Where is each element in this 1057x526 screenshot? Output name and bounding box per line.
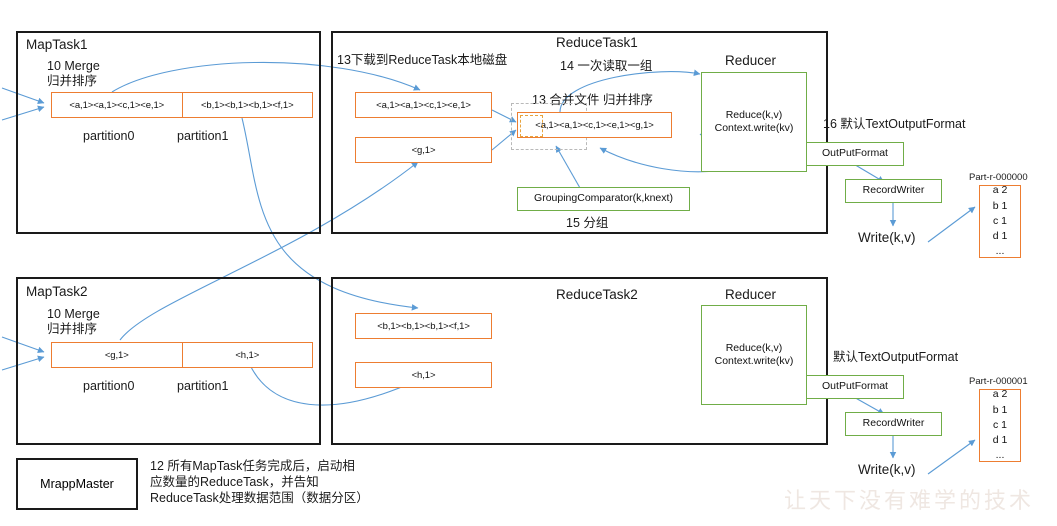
reducetask1-read-group-label: 14 一次读取一组: [560, 58, 652, 75]
reducetask1-fetched-box-2-data: <g,1>: [412, 145, 436, 156]
maptask2-partition0-cell: <g,1>: [52, 343, 182, 367]
reducetask2-write-label: Write(k,v): [858, 461, 916, 479]
reducetask1-fetched-box-2: <g,1>: [355, 137, 492, 163]
reducetask1-output-format-label: 16 默认TextOutputFormat: [823, 116, 965, 133]
reducetask1-fetched-box-1-data: <a,1><a,1><c,1><e,1>: [376, 100, 471, 111]
maptask1-partition-box: <a,1><a,1><c,1><e,1> <b,1><b,1><b,1><f,1…: [51, 92, 313, 118]
maptask1-partition1-label: partition1: [177, 128, 228, 145]
reducetask2-output-format-box-label: OutPutFormat: [822, 380, 888, 393]
part-file-row: c 1: [993, 214, 1007, 229]
reducetask2-fetched-box-2: <h,1>: [355, 362, 492, 388]
part-file-row: ...: [996, 244, 1005, 259]
maptask1-partition0-label: partition0: [83, 128, 134, 145]
reducetask1-reducer-line2: Context.write(kv): [715, 122, 794, 135]
reducetask2-fetched-box-2-data: <h,1>: [412, 370, 436, 381]
maptask2-partition1-data: <h,1>: [235, 350, 259, 361]
maptask2-partition0-label: partition0: [83, 378, 134, 395]
reducetask2-fetched-box-1: <b,1><b,1><b,1><f,1>: [355, 313, 492, 339]
reducetask1-download-label: 13下载到ReduceTask本地磁盘: [337, 52, 507, 69]
reducetask2-title: ReduceTask2: [556, 286, 638, 304]
merged-box-first-group-highlight: [520, 115, 543, 137]
watermark-text: 让天下没有难学的技术: [784, 483, 1034, 515]
maptask2-partition1-cell: <h,1>: [182, 343, 313, 367]
reducetask1-fetched-box-1: <a,1><a,1><c,1><e,1>: [355, 92, 492, 118]
reducetask1-write-label: Write(k,v): [858, 229, 916, 247]
maptask1-partition0-cell: <a,1><a,1><c,1><e,1>: [52, 93, 182, 117]
part-file-row: d 1: [993, 229, 1008, 244]
reducetask1-reducer-line1: Reduce(k,v): [726, 109, 783, 122]
maptask2-title: MapTask2: [26, 283, 88, 301]
part-file-row: b 1: [993, 199, 1008, 214]
reducetask2-record-writer-box: RecordWriter: [845, 412, 942, 436]
reducetask1-record-writer-box: RecordWriter: [845, 179, 942, 203]
reducetask2-reducer-line2: Context.write(kv): [715, 355, 794, 368]
part-file-row: ...: [996, 448, 1005, 463]
maptask2-partition0-data: <g,1>: [105, 350, 129, 361]
part-file-row: b 1: [993, 403, 1008, 418]
reducetask1-reducer-box: Reduce(k,v) Context.write(kv): [701, 72, 807, 172]
reducetask2-part-file-box: a 2 b 1 c 1 d 1 ...: [979, 389, 1021, 462]
mrappmaster-note-line1: 12 所有MapTask任务完成后，启动相: [150, 458, 355, 475]
maptask2-partition1-label: partition1: [177, 378, 228, 395]
mrappmaster-box: MrappMaster: [16, 458, 138, 510]
part-file-row: d 1: [993, 433, 1008, 448]
maptask1-title: MapTask1: [26, 36, 88, 54]
part-file-row: c 1: [993, 418, 1007, 433]
reducetask2-fetched-box-1-data: <b,1><b,1><b,1><f,1>: [377, 321, 470, 332]
reducetask1-record-writer-label: RecordWriter: [863, 184, 925, 197]
grouping-comparator-box: GroupingComparator(k,knext): [517, 187, 690, 211]
reducetask1-merged-box-data: <a,1><a,1><c,1><e,1><g,1>: [535, 120, 653, 131]
reducetask1-output-format-box: OutPutFormat: [806, 142, 904, 166]
reducetask2-output-format-label: 默认TextOutputFormat: [833, 349, 958, 366]
reducetask1-part-file-box: a 2 b 1 c 1 d 1 ...: [979, 185, 1021, 258]
reducetask2-output-format-box: OutPutFormat: [806, 375, 904, 399]
reducetask1-output-format-box-label: OutPutFormat: [822, 147, 888, 160]
reducetask1-group-label: 15 分组: [566, 215, 608, 232]
maptask2-merge-label-line2: 归并排序: [47, 321, 97, 338]
mrappmaster-note-line2: 应数量的ReduceTask，并告知: [150, 474, 319, 491]
reducetask1-reducer-title: Reducer: [725, 52, 776, 70]
diagram-canvas: MapTask1 10 Merge 归并排序 <a,1><a,1><c,1><e…: [0, 0, 1057, 526]
maptask1-partition0-data: <a,1><a,1><c,1><e,1>: [69, 100, 164, 111]
part-file-row: a 2: [993, 387, 1008, 402]
reducetask2-record-writer-label: RecordWriter: [863, 417, 925, 430]
maptask1-partition1-cell: <b,1><b,1><b,1><f,1>: [182, 93, 313, 117]
mrappmaster-label: MrappMaster: [40, 477, 114, 491]
reducetask2-reducer-box: Reduce(k,v) Context.write(kv): [701, 305, 807, 405]
mrappmaster-note-line3: ReduceTask处理数据范围（数据分区）: [150, 490, 369, 507]
reducetask2-reducer-line1: Reduce(k,v): [726, 342, 783, 355]
reducetask1-title: ReduceTask1: [556, 34, 638, 52]
maptask2-partition-box: <g,1> <h,1>: [51, 342, 313, 368]
maptask1-partition1-data: <b,1><b,1><b,1><f,1>: [201, 100, 294, 111]
reducetask2-reducer-title: Reducer: [725, 286, 776, 304]
part-file-row: a 2: [993, 183, 1008, 198]
grouping-comparator-label: GroupingComparator(k,knext): [534, 192, 673, 205]
maptask1-merge-label-line2: 归并排序: [47, 73, 97, 90]
